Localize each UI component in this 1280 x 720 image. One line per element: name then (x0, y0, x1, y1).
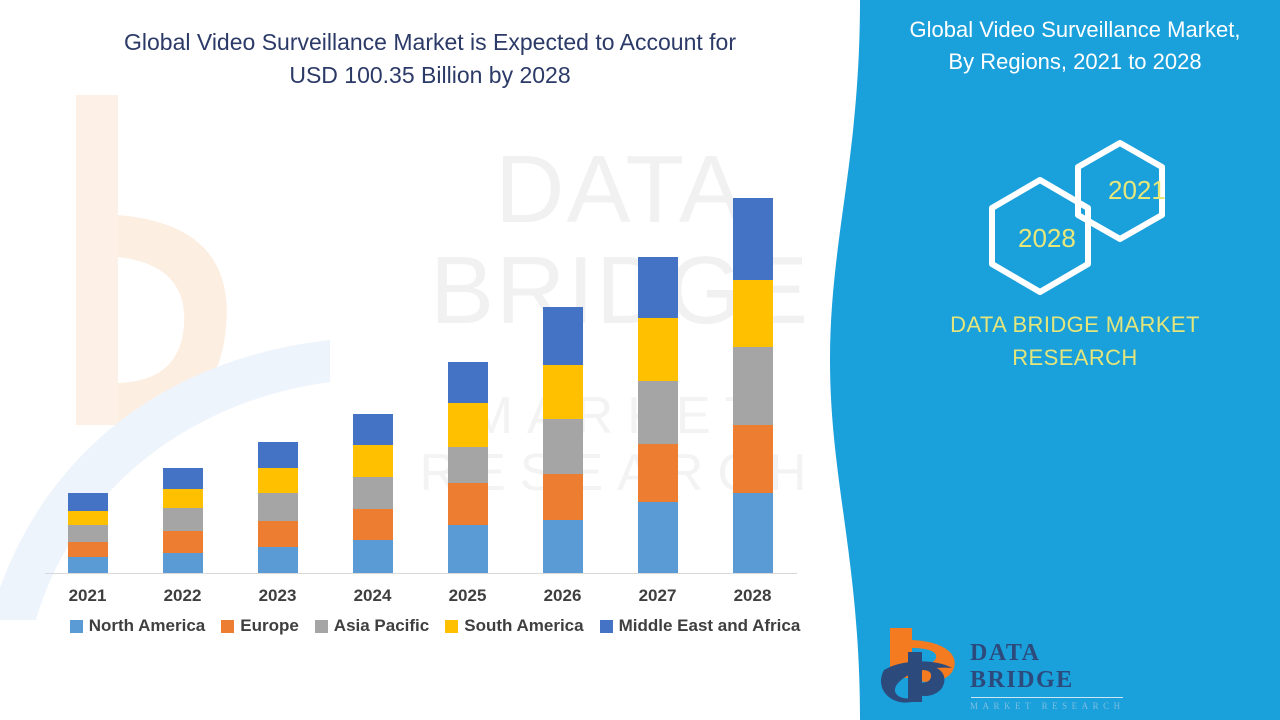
bar-segment[interactable] (448, 525, 488, 573)
logo-text-block: DATA BRIDGE MARKET RESEARCH (970, 640, 1128, 711)
legend-item[interactable]: Europe (221, 616, 299, 636)
bar-segment[interactable] (353, 509, 393, 540)
chart-title-line-1: Global Video Surveillance Market is Expe… (60, 26, 800, 59)
logo-tagline: MARKET RESEARCH (970, 701, 1128, 711)
legend-label: North America (89, 616, 206, 636)
bar-segment[interactable] (163, 531, 203, 553)
bar-segment[interactable] (543, 419, 583, 474)
stacked-bar[interactable] (353, 414, 393, 573)
bar-segment[interactable] (68, 557, 108, 573)
bar-segment[interactable] (258, 521, 298, 547)
panel-title: Global Video Surveillance Market, By Reg… (880, 14, 1270, 78)
stacked-bar[interactable] (733, 198, 773, 573)
x-axis-label: 2026 (515, 586, 610, 606)
bar-segment[interactable] (163, 468, 203, 489)
x-axis-label: 2028 (705, 586, 800, 606)
legend-item[interactable]: Middle East and Africa (600, 616, 801, 636)
legend-label: Middle East and Africa (619, 616, 801, 636)
chart-plot-area (40, 150, 800, 574)
hexagon-start-year: 2021 (1108, 175, 1166, 206)
bar-segment[interactable] (68, 511, 108, 525)
legend-swatch-icon (445, 620, 458, 633)
legend-label: Europe (240, 616, 299, 636)
bar-segment[interactable] (733, 198, 773, 280)
legend-swatch-icon (70, 620, 83, 633)
x-axis-label: 2024 (325, 586, 420, 606)
legend-item[interactable]: Asia Pacific (315, 616, 429, 636)
bar-slot (610, 150, 705, 573)
bar-segment[interactable] (448, 483, 488, 525)
bar-segment[interactable] (733, 425, 773, 493)
bar-segment[interactable] (638, 257, 678, 318)
bar-segment[interactable] (448, 362, 488, 403)
bar-segment[interactable] (543, 307, 583, 365)
chart-legend: North AmericaEuropeAsia PacificSouth Ame… (40, 616, 830, 636)
logo-name: DATA BRIDGE (970, 640, 1128, 694)
x-axis-line (45, 573, 797, 574)
stacked-bar-group (40, 150, 800, 573)
bar-slot (515, 150, 610, 573)
legend-item[interactable]: North America (70, 616, 206, 636)
bar-segment[interactable] (543, 474, 583, 520)
bar-segment[interactable] (68, 493, 108, 511)
data-bridge-mark-icon (878, 626, 968, 704)
hexagon-outlines-icon (970, 135, 1190, 295)
x-axis-label: 2022 (135, 586, 230, 606)
bar-segment[interactable] (448, 447, 488, 483)
bar-segment[interactable] (163, 553, 203, 573)
panel-brand-line-1: DATA BRIDGE MARKET (880, 308, 1270, 341)
stacked-bar[interactable] (163, 468, 203, 573)
bar-slot (420, 150, 515, 573)
bar-slot (40, 150, 135, 573)
bar-slot (705, 150, 800, 573)
legend-label: South America (464, 616, 583, 636)
x-axis-label: 2023 (230, 586, 325, 606)
bar-segment[interactable] (638, 318, 678, 381)
bar-slot (325, 150, 420, 573)
bar-segment[interactable] (543, 365, 583, 419)
legend-label: Asia Pacific (334, 616, 429, 636)
bar-segment[interactable] (353, 414, 393, 445)
infographic-canvas: DATA BRIDGE MARKET RESEARCH Global Video… (0, 0, 1280, 720)
stacked-bar[interactable] (543, 307, 583, 573)
bar-segment[interactable] (258, 468, 298, 493)
hexagon-end-year: 2028 (1018, 223, 1076, 254)
legend-item[interactable]: South America (445, 616, 583, 636)
x-axis-label: 2021 (40, 586, 135, 606)
bar-segment[interactable] (733, 493, 773, 573)
bar-segment[interactable] (733, 347, 773, 425)
bar-segment[interactable] (353, 445, 393, 477)
x-axis-label: 2025 (420, 586, 515, 606)
bar-slot (135, 150, 230, 573)
legend-swatch-icon (221, 620, 234, 633)
bar-segment[interactable] (638, 444, 678, 502)
bar-segment[interactable] (68, 542, 108, 557)
bar-segment[interactable] (733, 280, 773, 347)
bar-segment[interactable] (258, 547, 298, 573)
chart-title: Global Video Surveillance Market is Expe… (60, 26, 800, 91)
bar-segment[interactable] (638, 381, 678, 444)
panel-brand-text: DATA BRIDGE MARKET RESEARCH (880, 308, 1270, 374)
legend-swatch-icon (600, 620, 613, 633)
legend-swatch-icon (315, 620, 328, 633)
bar-segment[interactable] (353, 477, 393, 509)
bar-slot (230, 150, 325, 573)
bar-segment[interactable] (543, 520, 583, 573)
stacked-bar[interactable] (258, 442, 298, 573)
panel-title-line-1: Global Video Surveillance Market, (880, 14, 1270, 46)
stacked-bar[interactable] (638, 257, 678, 573)
x-axis-label: 2027 (610, 586, 705, 606)
bar-segment[interactable] (353, 540, 393, 573)
hexagon-year-group: 2021 2028 (970, 135, 1190, 295)
panel-brand-line-2: RESEARCH (880, 341, 1270, 374)
panel-title-line-2: By Regions, 2021 to 2028 (880, 46, 1270, 78)
bar-segment[interactable] (448, 403, 488, 447)
bar-segment[interactable] (163, 489, 203, 508)
data-bridge-logo: DATA BRIDGE MARKET RESEARCH (878, 626, 1128, 706)
panel-content: Global Video Surveillance Market, By Reg… (860, 0, 1280, 720)
bar-segment[interactable] (68, 525, 108, 542)
logo-divider (971, 697, 1123, 698)
x-axis-labels: 20212022202320242025202620272028 (40, 586, 800, 606)
bar-segment[interactable] (163, 508, 203, 531)
chart-title-line-2: USD 100.35 Billion by 2028 (60, 59, 800, 92)
bar-segment[interactable] (258, 493, 298, 521)
bar-segment[interactable] (638, 502, 678, 573)
bar-segment[interactable] (258, 442, 298, 468)
stacked-bar[interactable] (448, 362, 488, 573)
stacked-bar[interactable] (68, 493, 108, 573)
